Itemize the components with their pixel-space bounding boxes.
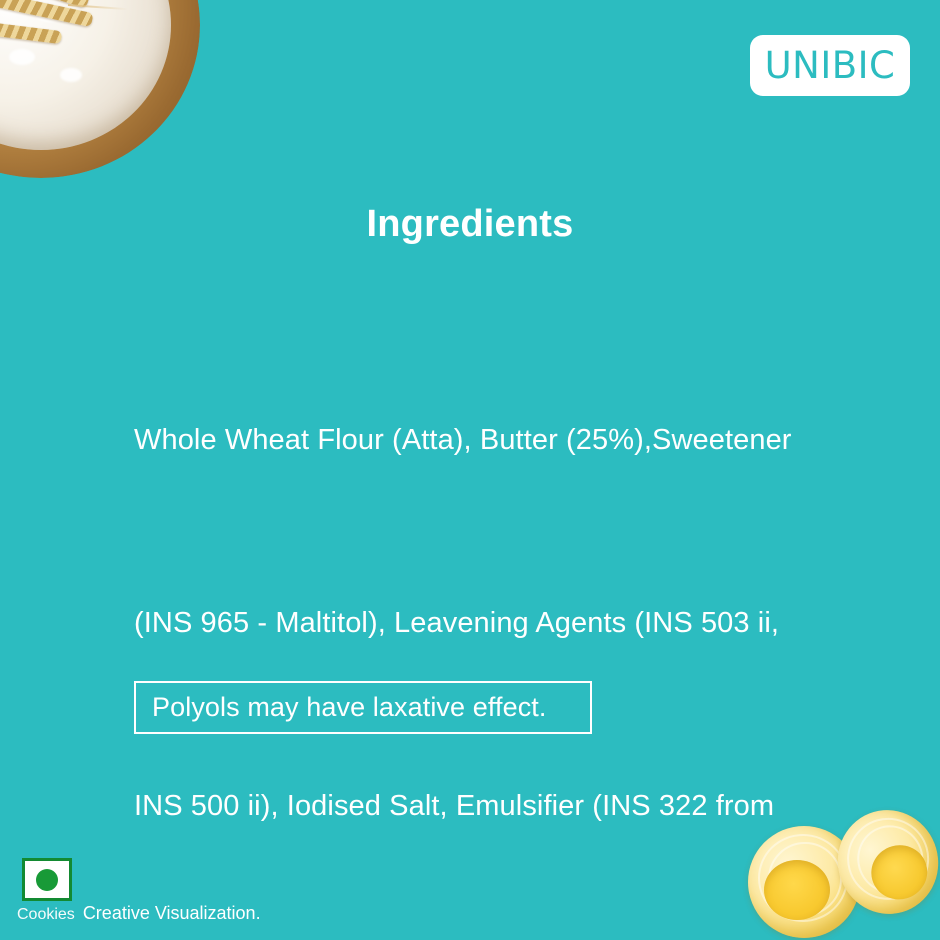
butter-curl-ridge	[837, 808, 938, 909]
ingredients-text-block: Whole Wheat Flour (Atta), Butter (25%),S…	[134, 288, 824, 940]
page-title: Ingredients	[0, 203, 940, 246]
product-type-label: Cookies	[17, 906, 75, 924]
ingredients-line: INS 500 ii), Iodised Salt, Emulsifier (I…	[134, 776, 824, 837]
ingredients-poster: UNIBIC Ingredients Whole Wheat Flour (At…	[0, 0, 940, 940]
ingredients-line: Whole Wheat Flour (Atta), Butter (25%),S…	[134, 410, 824, 471]
flour-speck	[60, 68, 82, 82]
unibic-logo: UNIBIC	[750, 35, 910, 96]
vegetarian-mark-icon	[22, 858, 72, 901]
ingredients-line: (INS 965 - Maltitol), Leavening Agents (…	[134, 593, 824, 654]
butter-curls-image	[740, 795, 940, 940]
butter-curl-ridge	[768, 842, 842, 916]
vegetarian-dot	[36, 869, 58, 891]
polyols-notice-box: Polyols may have laxative effect.	[134, 681, 592, 734]
unibic-logo-text: UNIBIC	[765, 47, 896, 84]
creative-visualization-disclaimer: Creative Visualization.	[83, 903, 261, 924]
wheat-flour-bowl-image	[0, 0, 200, 178]
footer: Cookies Creative Visualization.	[17, 903, 261, 924]
polyols-notice-text: Polyols may have laxative effect.	[136, 692, 547, 723]
